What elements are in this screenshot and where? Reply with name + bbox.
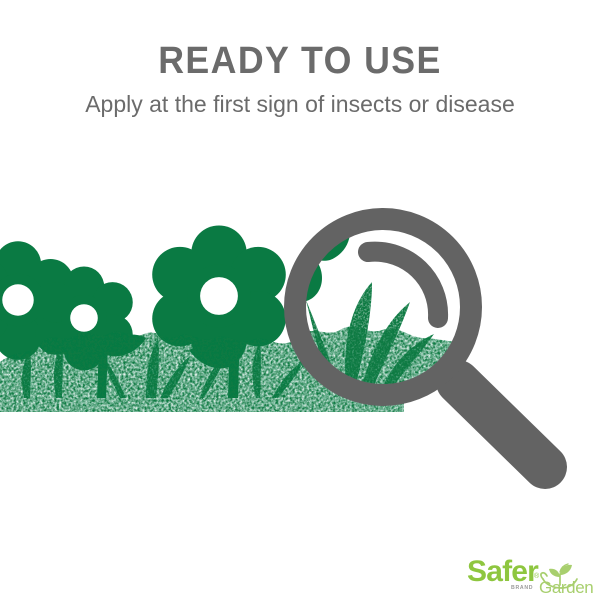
page-title: READY TO USE	[18, 42, 582, 80]
logo-wordmark: Safer	[467, 555, 539, 588]
magnifier-handle	[458, 382, 545, 467]
poster-canvas: READY TO USE Apply at the first sign of …	[0, 0, 600, 600]
page-subtitle: Apply at the first sign of insects or di…	[0, 80, 600, 116]
magnifier-icon	[295, 216, 545, 467]
logo-brand-subtext: BRAND	[511, 585, 533, 591]
safer-brand-garden-logo[interactable]: Safer ® BRAND Garden	[466, 549, 594, 597]
header-block: READY TO USE Apply at the first sign of …	[0, 42, 600, 116]
logo-second-word: Garden	[539, 578, 593, 597]
